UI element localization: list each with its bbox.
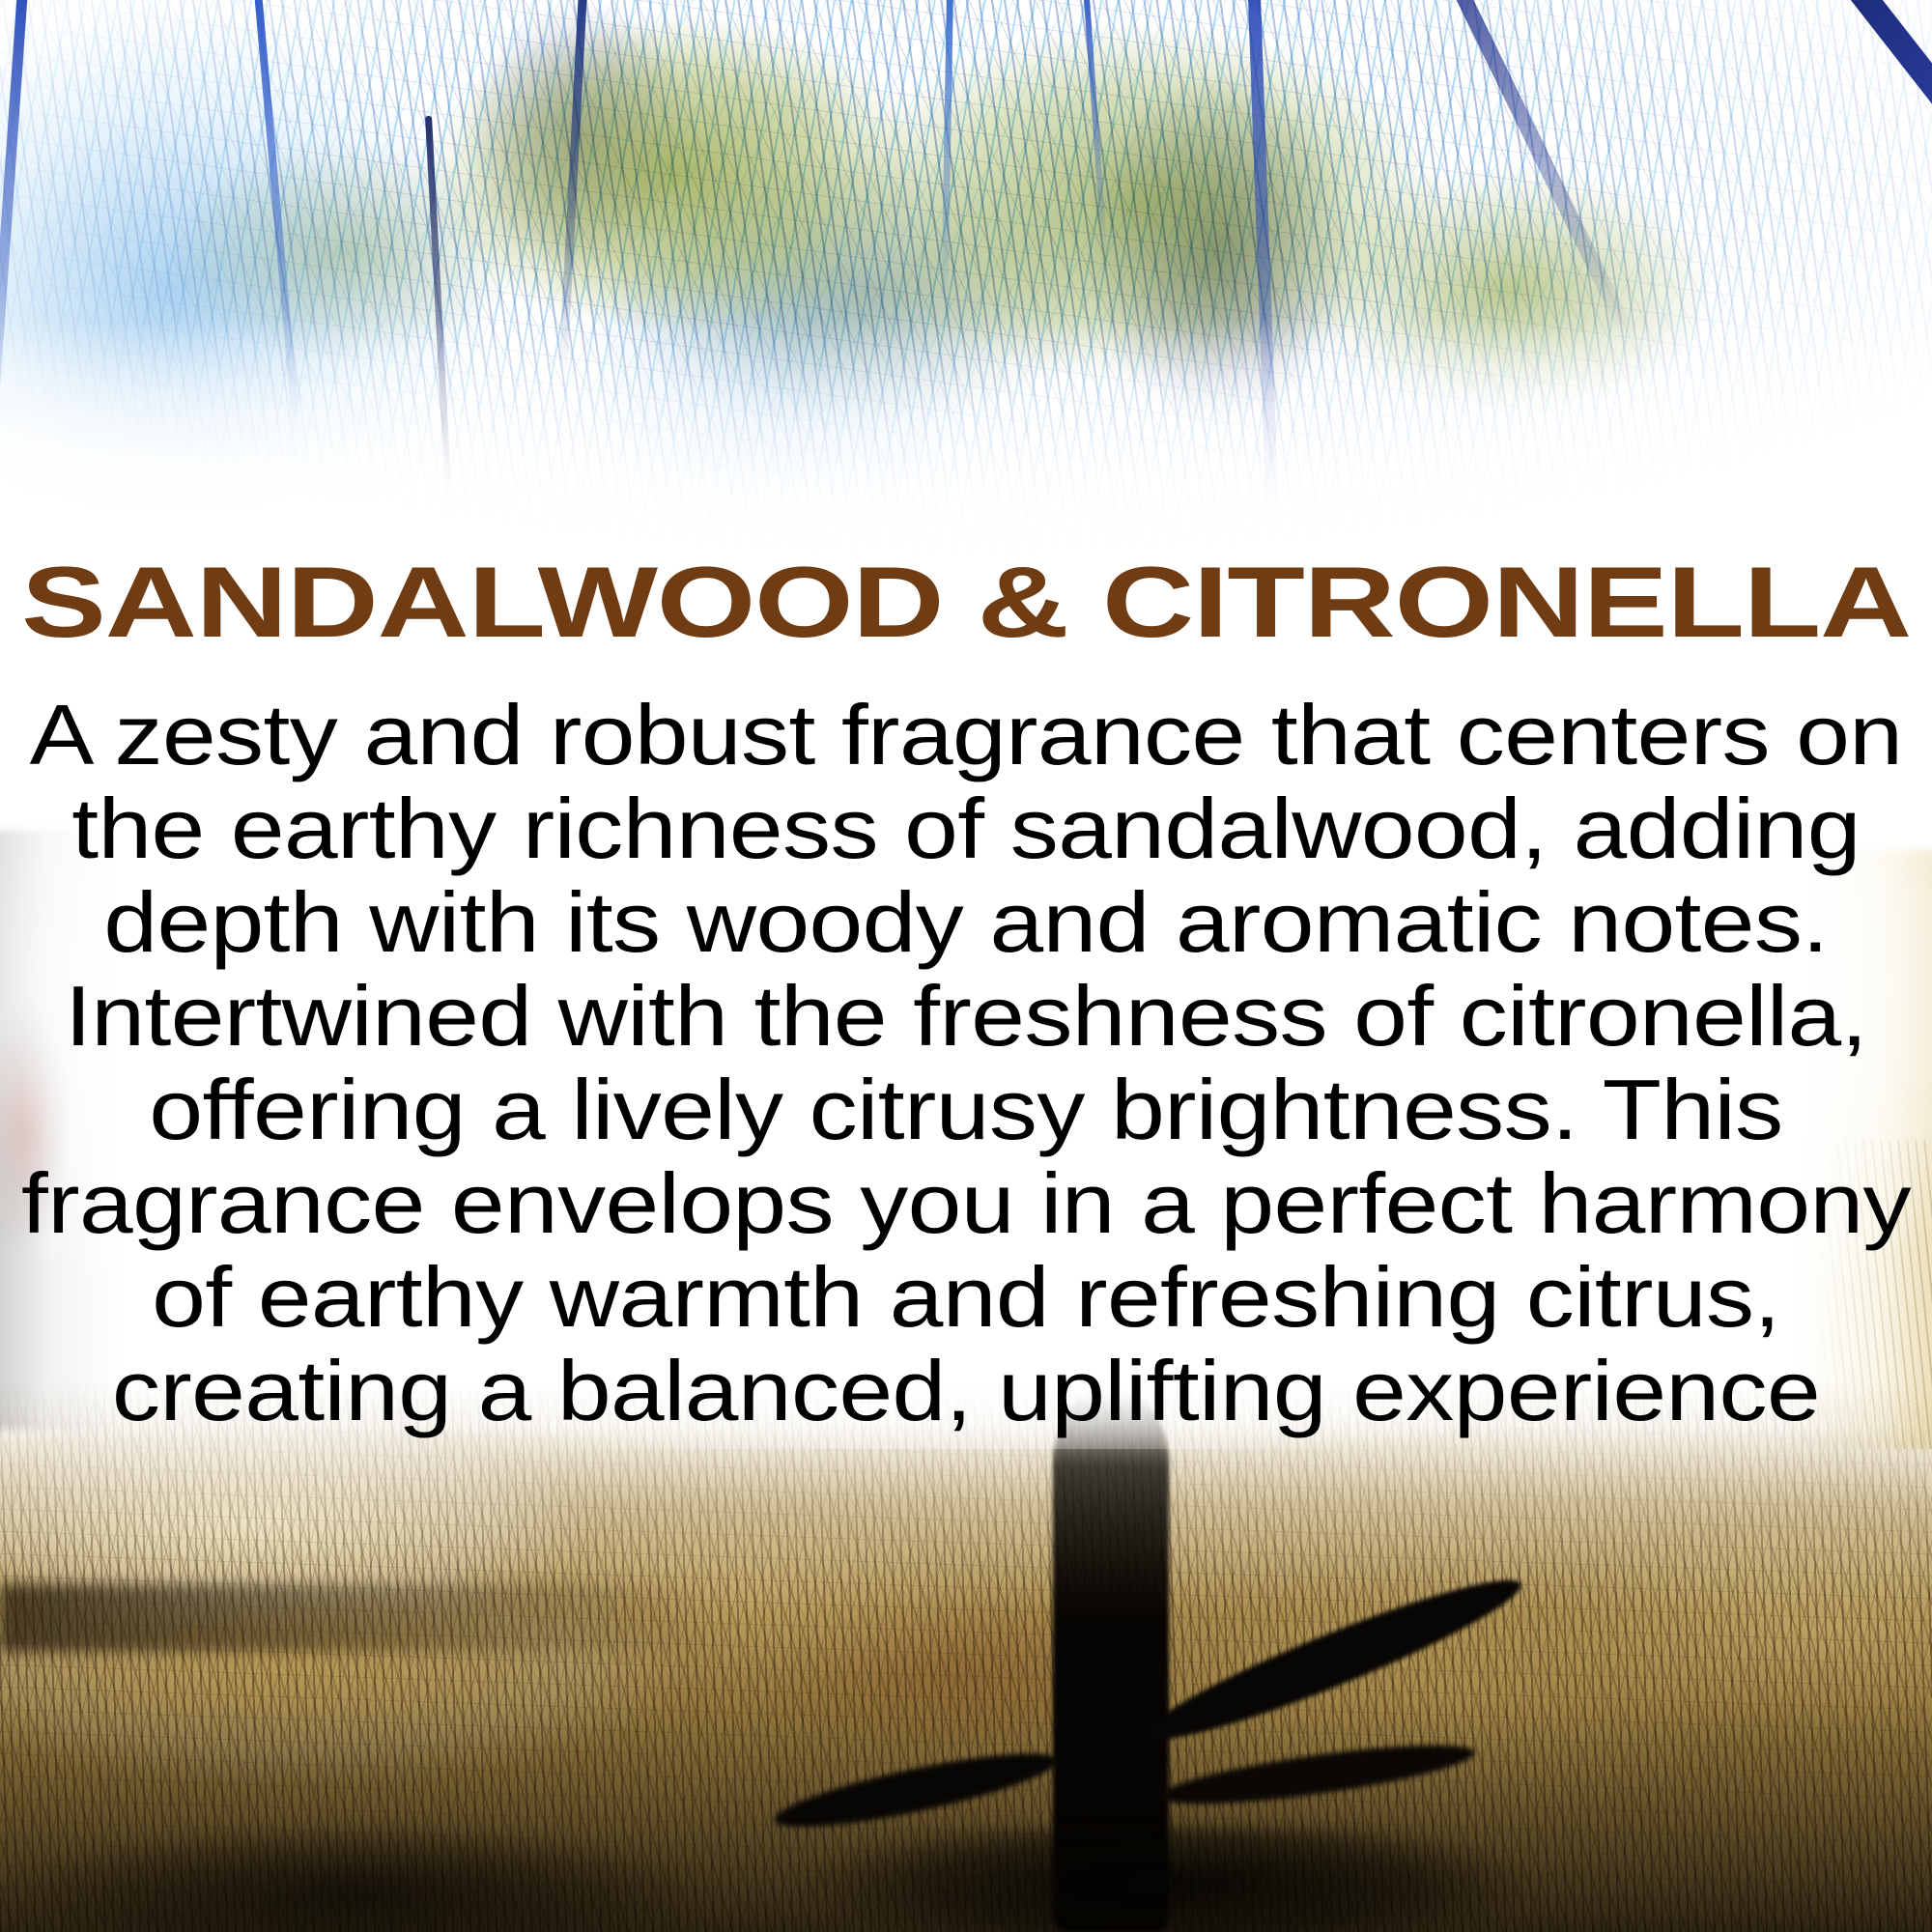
tree-bough-right-lower bbox=[1156, 1733, 1477, 1816]
blue-branch-2 bbox=[253, 0, 300, 434]
description-line: depth with its woody and aromatic notes. bbox=[0, 875, 1932, 969]
fragrance-description: A zesty and robust fragrance that center… bbox=[21, 688, 1911, 1437]
description-line: A zesty and robust fragrance that center… bbox=[0, 688, 1932, 781]
description-line: the earthy richness of sandalwood, addin… bbox=[0, 781, 1932, 875]
ground-shadow-band bbox=[0, 1584, 734, 1652]
silhouette-tree-trunk bbox=[1053, 1391, 1169, 1932]
description-line: fragrance envelops you in a perfect harm… bbox=[0, 1156, 1932, 1250]
page-title: SANDALWOOD & CITRONELLA bbox=[0, 549, 1932, 657]
tree-bough-left bbox=[770, 1739, 1063, 1840]
ground-shadow-left bbox=[0, 1816, 753, 1932]
grass-ground-background bbox=[0, 1381, 1932, 1932]
blue-diagonal-branch-2 bbox=[1751, 0, 1932, 436]
description-line: offering a lively citrusy brightness. Th… bbox=[0, 1063, 1932, 1156]
blue-branch-6 bbox=[1082, 0, 1108, 260]
fragrance-poster: SANDALWOOD & CITRONELLA A zesty and robu… bbox=[0, 0, 1932, 1932]
blue-branch-5 bbox=[941, 0, 953, 309]
tree-canopy-background bbox=[0, 0, 1932, 618]
blue-branch-4 bbox=[425, 116, 452, 502]
tree-bough-right-upper bbox=[1135, 1560, 1531, 1760]
blue-branch-3 bbox=[558, 0, 588, 377]
tree-base-shadow bbox=[734, 1826, 1604, 1932]
blue-diagonal-branch-1 bbox=[1402, 0, 1635, 339]
canopy-twig-texture bbox=[0, 0, 1932, 618]
description-line: of earthy warmth and refreshing citrus, bbox=[0, 1250, 1932, 1344]
blue-branch-7 bbox=[1246, 0, 1279, 522]
grass-texture bbox=[0, 1381, 1932, 1932]
description-line: creating a balanced, uplifting experienc… bbox=[0, 1344, 1932, 1437]
description-line: Intertwined with the freshness of citron… bbox=[0, 969, 1932, 1063]
blue-branch-1 bbox=[0, 0, 30, 463]
